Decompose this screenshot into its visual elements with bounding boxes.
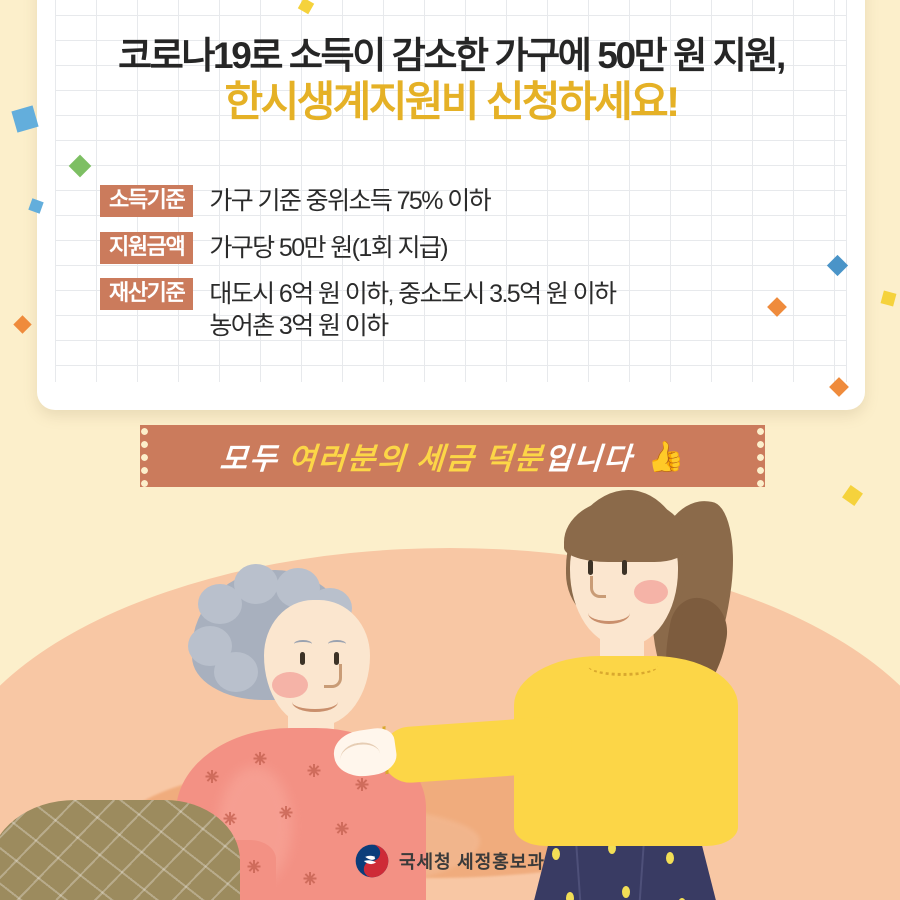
young-woman-nose [590, 576, 606, 598]
info-rows: 소득기준 가구 기준 중위소득 75% 이하 지원금액 가구당 50만 원(1회… [100, 185, 845, 356]
young-woman-fringe [564, 498, 686, 562]
elderly-woman-nose [324, 664, 342, 688]
info-value-line: 가구당 50만 원(1회 지급) [209, 233, 447, 265]
elderly-woman-eyebrow [294, 640, 312, 648]
confetti-blue-square [11, 105, 38, 132]
info-value-line: 가구 기준 중위소득 75% 이하 [209, 186, 490, 218]
banner-text-highlight: 여러분의 세금 덕분 [287, 443, 545, 476]
elderly-woman-eye [300, 652, 305, 665]
info-tag-asset-standard: 재산기준 [100, 278, 193, 310]
elderly-woman-mouth [292, 692, 338, 712]
floral-motif [254, 752, 267, 765]
info-card: 코로나19로 소득이 감소한 가구에 50만 원 지원, 한시생계지원비 신청하… [37, 0, 865, 410]
banner-text: 모두 여러분의 세금 덕분입니다 [219, 434, 635, 478]
headline-line-2: 한시생계지원비 신청하세요! [37, 78, 865, 126]
confetti-yellow-right [881, 291, 897, 307]
footer: 국세청 세정홍보과 [0, 844, 900, 878]
young-woman-eye [588, 560, 593, 575]
floral-motif [356, 778, 369, 791]
info-row: 재산기준 대도시 6억 원 이하, 중소도시 3.5억 원 이하 농어촌 3억 … [100, 278, 845, 342]
young-woman-eye [622, 560, 627, 575]
info-row: 소득기준 가구 기준 중위소득 75% 이하 [100, 185, 845, 218]
hair-curl [234, 564, 278, 604]
floral-motif [308, 764, 321, 777]
info-value-line: 농어촌 3억 원 이하 [209, 311, 615, 343]
info-value-income-standard: 가구 기준 중위소득 75% 이하 [209, 185, 490, 218]
info-tag-income-standard: 소득기준 [100, 185, 193, 217]
skirt-dot [566, 892, 574, 900]
banner-text-part2: 입니다 [543, 443, 634, 476]
poster-root: 코로나19로 소득이 감소한 가구에 50만 원 지원, 한시생계지원비 신청하… [0, 0, 900, 900]
info-value-asset-standard: 대도시 6억 원 이하, 중소도시 3.5억 원 이하 농어촌 3억 원 이하 [209, 278, 615, 342]
banner-text-part1: 모두 [219, 443, 290, 476]
info-value-line: 대도시 6억 원 이하, 중소도시 3.5억 원 이하 [209, 279, 615, 311]
info-value-support-amount: 가구당 50만 원(1회 지급) [209, 232, 447, 265]
floral-motif [206, 770, 219, 783]
headline-line-1: 코로나19로 소득이 감소한 가구에 50만 원 지원, [37, 35, 865, 76]
young-woman-mouth [588, 602, 630, 624]
confetti-orange-small [13, 315, 31, 333]
korea-government-taegeuk-emblem [355, 844, 389, 878]
footer-organization: 국세청 세정홍보과 [399, 848, 545, 874]
headline-block: 코로나19로 소득이 감소한 가구에 50만 원 지원, 한시생계지원비 신청하… [37, 35, 865, 127]
young-woman-figure [470, 480, 750, 900]
skirt-dot [622, 886, 630, 898]
floral-motif [336, 822, 349, 835]
floral-motif [280, 806, 293, 819]
info-tag-support-amount: 지원금액 [100, 232, 193, 264]
thumbs-up-icon: 👍 [646, 441, 687, 476]
young-woman-cheek [634, 580, 668, 604]
hair-curl [214, 652, 258, 692]
tax-thanks-banner: 모두 여러분의 세금 덕분입니다 👍 [140, 425, 765, 487]
sweater-collar-stitch [588, 656, 658, 676]
info-row: 지원금액 가구당 50만 원(1회 지급) [100, 232, 845, 265]
illustration [0, 470, 900, 900]
elderly-woman-eyebrow [328, 640, 346, 648]
